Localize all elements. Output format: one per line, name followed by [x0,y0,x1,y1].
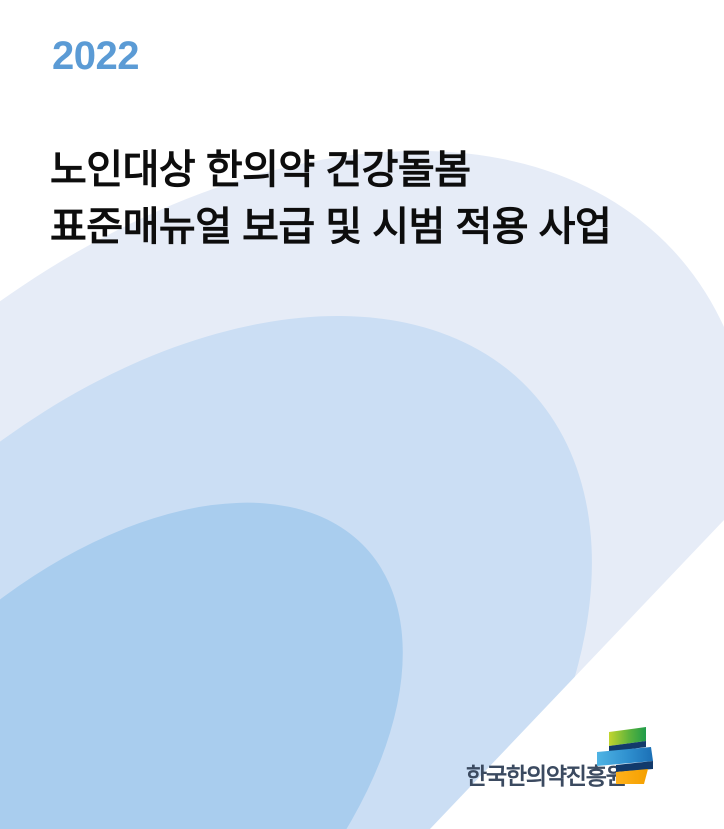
publisher-logo: 한국한의약진흥원 [466,722,658,792]
document-title-line-2: 표준매뉴얼 보급 및 시범 적용 사업 [50,199,700,256]
document-cover-page: 2022 노인대상 한의약 건강돌봄 표준매뉴얼 보급 및 시범 적용 사업 한… [0,0,724,829]
spiral-ribbon-logo-mark-icon [596,722,658,788]
document-title: 노인대상 한의약 건강돌봄 표준매뉴얼 보급 및 시범 적용 사업 [50,142,700,256]
publication-year: 2022 [52,36,139,76]
cover-content: 2022 노인대상 한의약 건강돌봄 표준매뉴얼 보급 및 시범 적용 사업 한… [0,0,724,829]
document-title-line-1: 노인대상 한의약 건강돌봄 [50,142,700,199]
